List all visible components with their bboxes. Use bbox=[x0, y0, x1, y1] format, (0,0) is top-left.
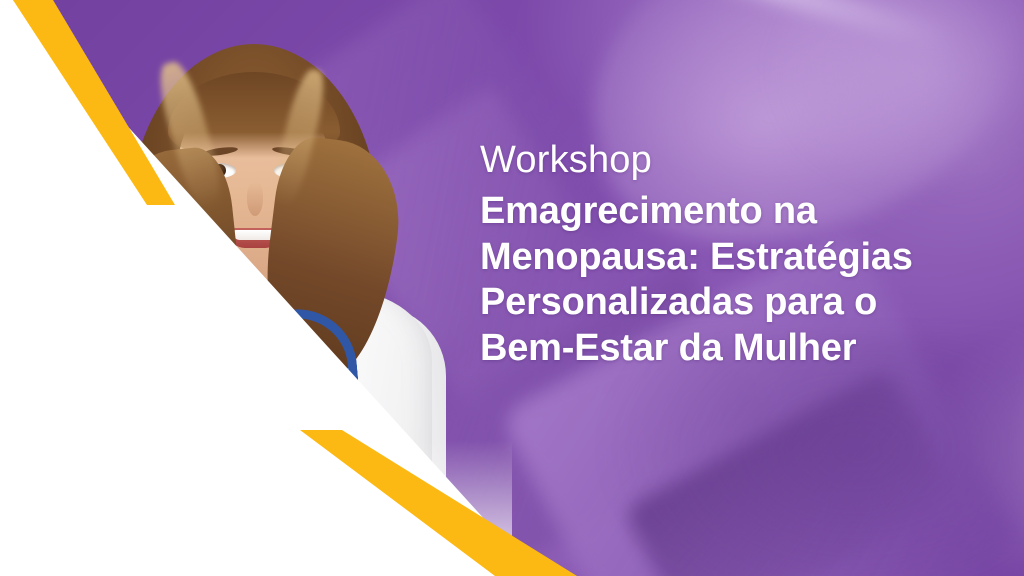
headline-line-4: Bem-Estar da Mulher bbox=[480, 326, 950, 372]
background-pen-shape bbox=[604, 0, 956, 51]
headline-line-1: Emagrecimento na bbox=[480, 189, 950, 235]
headline-line-3: Personalizadas para o bbox=[480, 280, 950, 326]
headline-line-2: Menopausa: Estratégias bbox=[480, 235, 950, 281]
photo-bottom-fade bbox=[0, 440, 512, 576]
eyebrow-label: Workshop bbox=[480, 140, 950, 181]
page-title: Emagrecimento na Menopausa: Estratégias … bbox=[480, 189, 950, 371]
doctor-photo bbox=[52, 10, 452, 576]
workshop-banner: Workshop Emagrecimento na Menopausa: Est… bbox=[0, 0, 1024, 576]
nose bbox=[247, 182, 263, 216]
background-shadow-glow bbox=[604, 336, 1024, 576]
text-block: Workshop Emagrecimento na Menopausa: Est… bbox=[480, 140, 950, 371]
background-tablet-edge-shape bbox=[622, 368, 957, 576]
